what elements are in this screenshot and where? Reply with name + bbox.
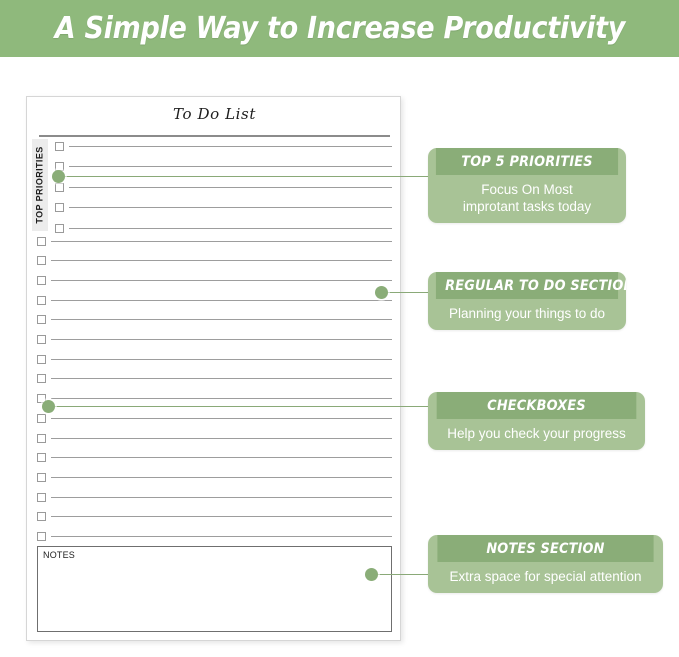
write-line <box>51 339 392 340</box>
checkbox-icon[interactable] <box>55 224 64 233</box>
checkbox-icon[interactable] <box>55 203 64 212</box>
todo-row[interactable] <box>37 530 392 544</box>
write-line <box>51 300 392 301</box>
write-line <box>51 378 392 379</box>
checkbox-icon[interactable] <box>37 374 46 383</box>
connector-dot-notes <box>365 568 378 581</box>
todo-row[interactable] <box>37 510 392 524</box>
priority-row[interactable] <box>55 160 392 174</box>
checkbox-icon[interactable] <box>37 335 46 344</box>
todo-row[interactable] <box>37 293 392 307</box>
page-title: A Simple Way to Increase Productivity <box>54 11 624 46</box>
checkbox-icon[interactable] <box>37 315 46 324</box>
priority-row[interactable] <box>55 201 392 215</box>
write-line <box>69 228 392 229</box>
callout-top-priorities[interactable]: TOP 5 PRIORITIES Focus On Most improtant… <box>428 148 626 223</box>
checkbox-icon[interactable] <box>37 256 46 265</box>
write-line <box>51 398 392 399</box>
notes-label: NOTES <box>43 550 75 560</box>
callout-checkboxes[interactable]: CHECKBOXES Help you check your progress <box>428 392 645 450</box>
checkbox-icon[interactable] <box>37 414 46 423</box>
write-line <box>51 516 392 517</box>
top-priorities-label: TOP PRIORITIES <box>35 146 45 223</box>
notes-section[interactable]: NOTES <box>37 546 392 632</box>
sheet-title: To Do List <box>27 105 402 123</box>
connector-dot-priorities <box>52 170 65 183</box>
callout-body: Planning your things to do <box>428 299 626 330</box>
title-divider <box>39 135 390 137</box>
write-line <box>51 497 392 498</box>
todo-row[interactable] <box>37 431 392 445</box>
checkbox-icon[interactable] <box>55 183 64 192</box>
callout-heading: REGULAR TO DO SECTION <box>436 272 618 299</box>
todo-row[interactable] <box>37 411 392 425</box>
write-line <box>69 207 392 208</box>
checkbox-icon[interactable] <box>37 532 46 541</box>
write-line <box>51 260 392 261</box>
write-line <box>51 438 392 439</box>
checkbox-icon[interactable] <box>37 276 46 285</box>
todo-row[interactable] <box>37 234 392 248</box>
priority-row[interactable] <box>55 139 392 153</box>
write-line <box>51 536 392 537</box>
todo-row[interactable] <box>37 352 392 366</box>
checkbox-icon[interactable] <box>55 142 64 151</box>
todo-row[interactable] <box>37 372 392 386</box>
write-line <box>51 359 392 360</box>
callout-notes-section[interactable]: NOTES SECTION Extra space for special at… <box>428 535 663 593</box>
callout-body: Extra space for special attention <box>428 562 663 593</box>
callout-body: Focus On Most improtant tasks today <box>428 175 626 223</box>
write-line <box>51 457 392 458</box>
connector-line-priorities <box>58 176 430 177</box>
callout-heading: TOP 5 PRIORITIES <box>436 148 618 175</box>
priority-row[interactable] <box>55 221 392 235</box>
todo-row[interactable] <box>37 392 392 406</box>
checkbox-icon[interactable] <box>37 434 46 443</box>
todo-row[interactable] <box>37 470 392 484</box>
checkbox-icon[interactable] <box>37 296 46 305</box>
checkbox-icon[interactable] <box>37 493 46 502</box>
connector-dot-checkboxes <box>42 400 55 413</box>
todo-row[interactable] <box>37 333 392 347</box>
write-line <box>51 280 392 281</box>
write-line <box>51 477 392 478</box>
write-line <box>69 166 392 167</box>
todo-sheet: To Do List TOP PRIORITIES NOTES <box>26 96 401 641</box>
connector-dot-regular <box>375 286 388 299</box>
callout-heading: CHECKBOXES <box>437 392 637 419</box>
callout-regular-section[interactable]: REGULAR TO DO SECTION Planning your thin… <box>428 272 626 330</box>
connector-line-checkboxes <box>48 406 430 407</box>
write-line <box>69 146 392 147</box>
priority-row[interactable] <box>55 180 392 194</box>
checkbox-icon[interactable] <box>37 355 46 364</box>
checkbox-icon[interactable] <box>37 237 46 246</box>
write-line <box>69 187 392 188</box>
connector-line-notes <box>371 574 430 575</box>
todo-row[interactable] <box>37 490 392 504</box>
todo-row[interactable] <box>37 313 392 327</box>
checkbox-icon[interactable] <box>37 512 46 521</box>
checkbox-icon[interactable] <box>37 453 46 462</box>
todo-row[interactable] <box>37 451 392 465</box>
write-line <box>51 241 392 242</box>
callout-body: Help you check your progress <box>428 419 645 450</box>
todo-row[interactable] <box>37 254 392 268</box>
header-banner: A Simple Way to Increase Productivity <box>0 0 679 57</box>
checkbox-icon[interactable] <box>37 473 46 482</box>
todo-row[interactable] <box>37 273 392 287</box>
connector-line-regular <box>381 292 430 293</box>
callout-heading: NOTES SECTION <box>437 535 653 562</box>
write-line <box>51 418 392 419</box>
top-priorities-tag: TOP PRIORITIES <box>32 139 48 231</box>
write-line <box>51 319 392 320</box>
